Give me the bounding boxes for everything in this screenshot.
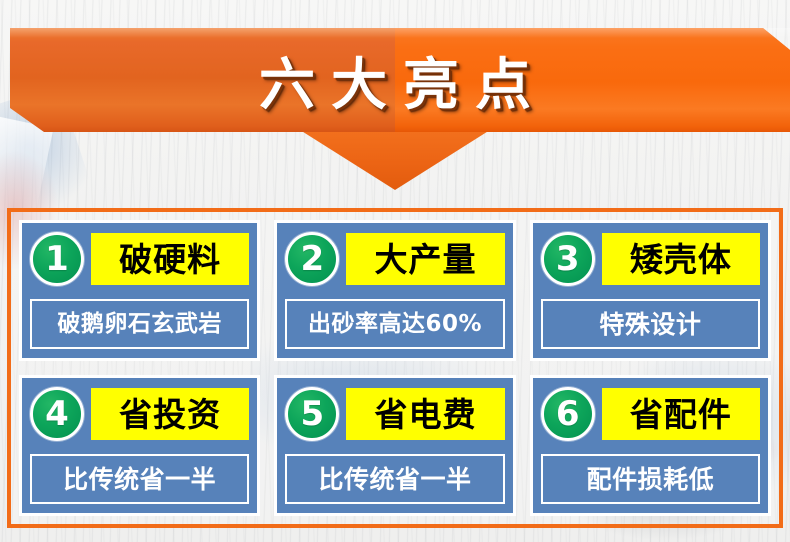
feature-title: 省电费 xyxy=(346,388,504,440)
number-badge-icon: 2 xyxy=(285,232,339,286)
feature-card-5[interactable]: 5 省电费 比传统省一半 xyxy=(274,375,515,516)
poster-page: 六大亮点 1 破硬料 破鹅卵石玄武岩 2 大产量 出砂率高达60% 3 xyxy=(0,0,790,542)
number-badge-icon: 3 xyxy=(541,232,595,286)
card-header: 2 大产量 xyxy=(285,230,504,288)
feature-title: 省配件 xyxy=(602,388,760,440)
feature-subtitle: 比传统省一半 xyxy=(30,454,249,504)
feature-title: 破硬料 xyxy=(91,233,249,285)
feature-title: 矮壳体 xyxy=(602,233,760,285)
number-badge-icon: 6 xyxy=(541,387,595,441)
features-grid: 1 破硬料 破鹅卵石玄武岩 2 大产量 出砂率高达60% 3 矮壳体 特殊设计 xyxy=(19,220,771,516)
feature-subtitle: 配件损耗低 xyxy=(541,454,760,504)
feature-title: 大产量 xyxy=(346,233,504,285)
page-title: 六大亮点 xyxy=(0,28,790,132)
features-frame: 1 破硬料 破鹅卵石玄武岩 2 大产量 出砂率高达60% 3 矮壳体 特殊设计 xyxy=(7,208,783,528)
headline-banner: 六大亮点 xyxy=(0,28,790,188)
feature-card-4[interactable]: 4 省投资 比传统省一半 xyxy=(19,375,260,516)
feature-card-1[interactable]: 1 破硬料 破鹅卵石玄武岩 xyxy=(19,220,260,361)
card-header: 3 矮壳体 xyxy=(541,230,760,288)
number-badge-icon: 4 xyxy=(30,387,84,441)
feature-subtitle: 破鹅卵石玄武岩 xyxy=(30,299,249,349)
feature-card-3[interactable]: 3 矮壳体 特殊设计 xyxy=(530,220,771,361)
feature-card-2[interactable]: 2 大产量 出砂率高达60% xyxy=(274,220,515,361)
banner-chevron-icon xyxy=(300,130,490,190)
number-badge-icon: 5 xyxy=(285,387,339,441)
card-header: 5 省电费 xyxy=(285,385,504,443)
card-header: 4 省投资 xyxy=(30,385,249,443)
feature-subtitle: 特殊设计 xyxy=(541,299,760,349)
feature-subtitle: 比传统省一半 xyxy=(285,454,504,504)
feature-title: 省投资 xyxy=(91,388,249,440)
number-badge-icon: 1 xyxy=(30,232,84,286)
feature-subtitle: 出砂率高达60% xyxy=(285,299,504,349)
card-header: 6 省配件 xyxy=(541,385,760,443)
card-header: 1 破硬料 xyxy=(30,230,249,288)
feature-card-6[interactable]: 6 省配件 配件损耗低 xyxy=(530,375,771,516)
